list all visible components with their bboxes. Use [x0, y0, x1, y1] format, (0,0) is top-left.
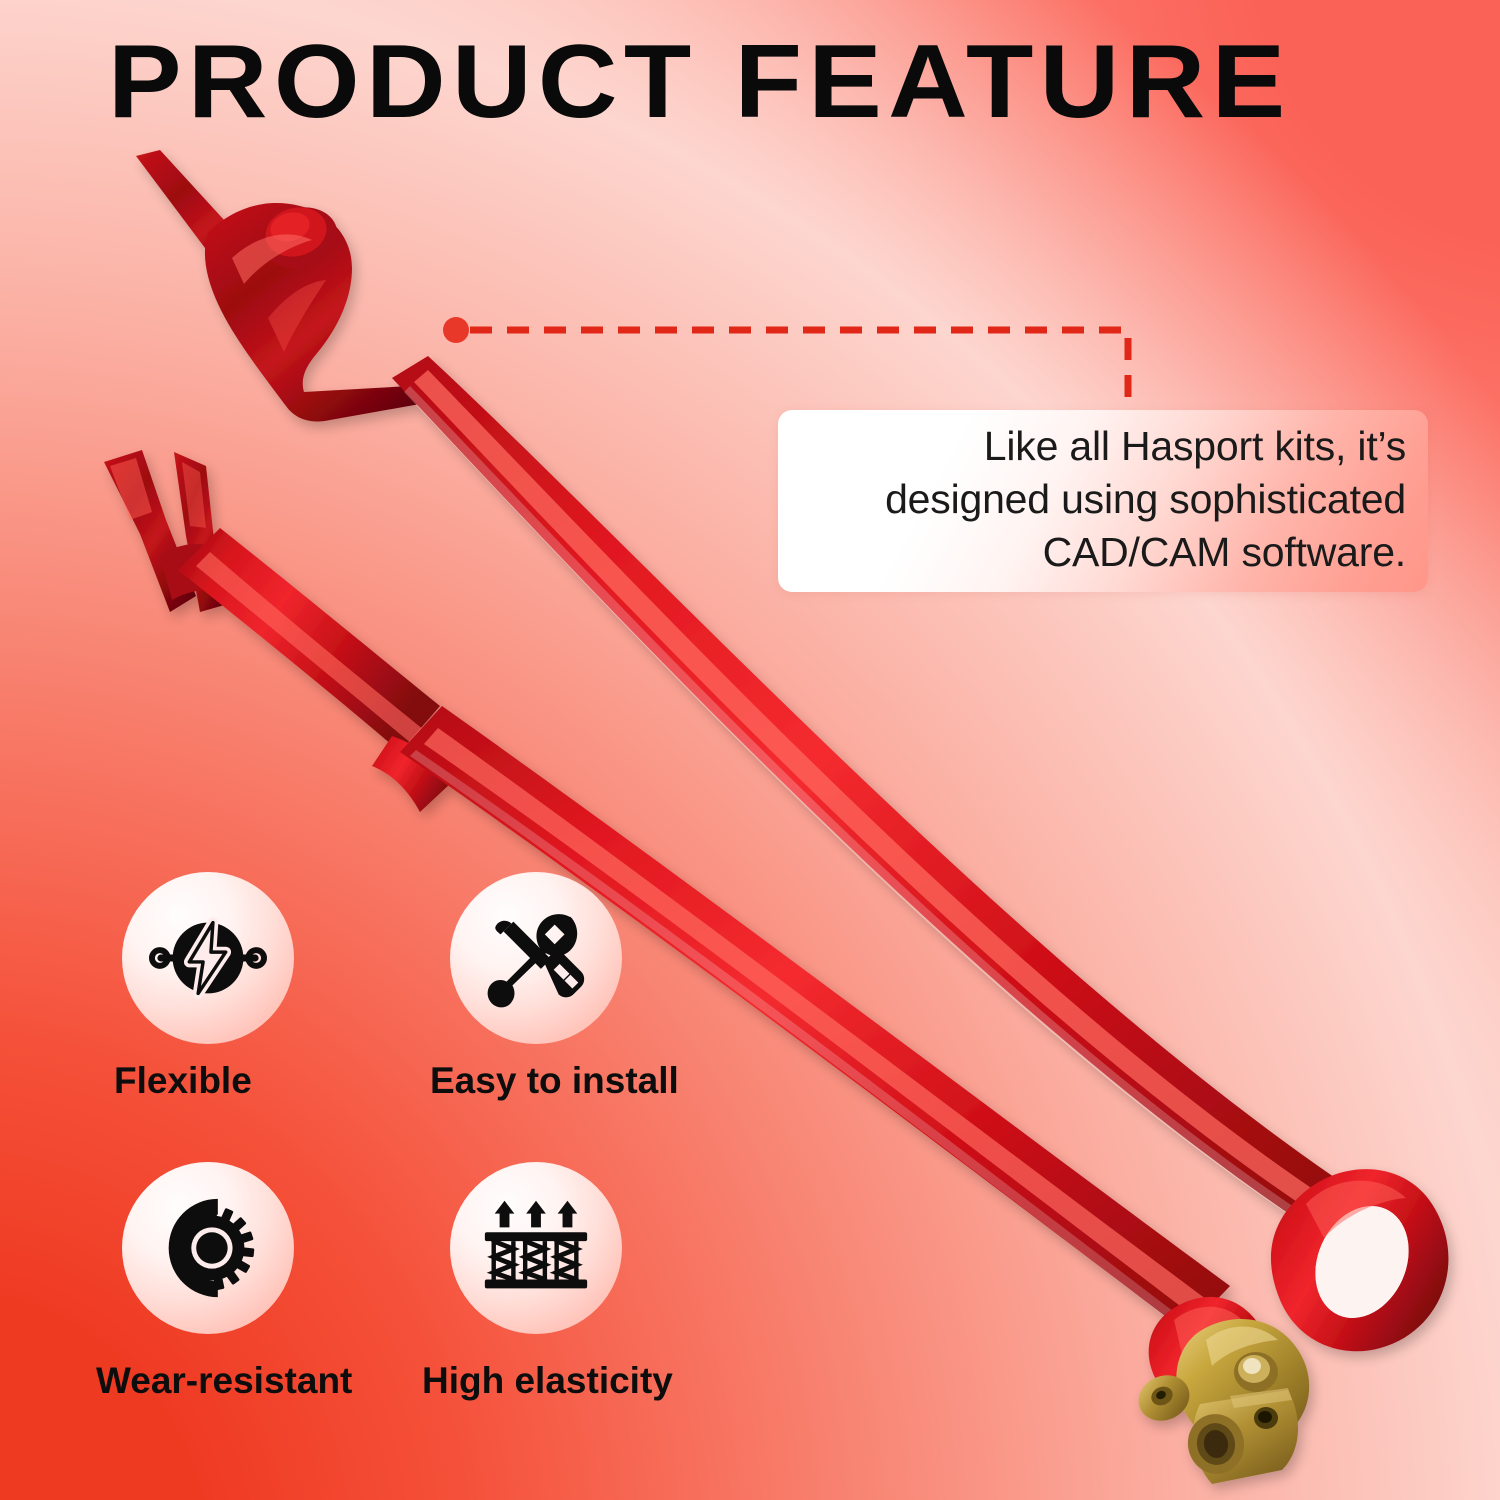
feature-label: Flexible	[96, 1058, 414, 1104]
lightning-circuit-icon	[149, 899, 267, 1017]
feature-badge-circle	[122, 872, 294, 1044]
feature-item-easy-to-install: Easy to install	[422, 872, 740, 1142]
callout-line-2: designed using sophisticated	[885, 476, 1406, 522]
feature-badge-circle	[450, 1162, 622, 1334]
feature-badge-circle	[122, 1162, 294, 1334]
callout-line-3: CAD/CAM software.	[1043, 529, 1406, 575]
infographic-canvas: PRODUCT FEATURE	[0, 0, 1500, 1500]
feature-item-high-elasticity: High elasticity	[422, 1162, 740, 1432]
leader-dashed-path	[470, 330, 1128, 412]
leader-dot	[443, 317, 469, 343]
gear-icon	[149, 1189, 267, 1307]
feature-label: High elasticity	[422, 1358, 740, 1404]
feature-label: Wear-resistant	[96, 1358, 414, 1404]
springs-arrows-icon	[477, 1189, 595, 1307]
callout-text: Like all Hasport kits, it’s designed usi…	[885, 420, 1406, 579]
feature-label: Easy to install	[422, 1058, 740, 1104]
feature-item-flexible: Flexible	[96, 872, 414, 1142]
feature-badge-circle	[450, 872, 622, 1044]
feature-item-wear-resistant: Wear-resistant	[96, 1162, 414, 1432]
feature-callout-box: Like all Hasport kits, it’s designed usi…	[778, 410, 1428, 592]
wrench-screwdriver-icon	[477, 899, 595, 1017]
feature-list: Flexible	[96, 872, 776, 1432]
callout-line-1: Like all Hasport kits, it’s	[984, 423, 1406, 469]
